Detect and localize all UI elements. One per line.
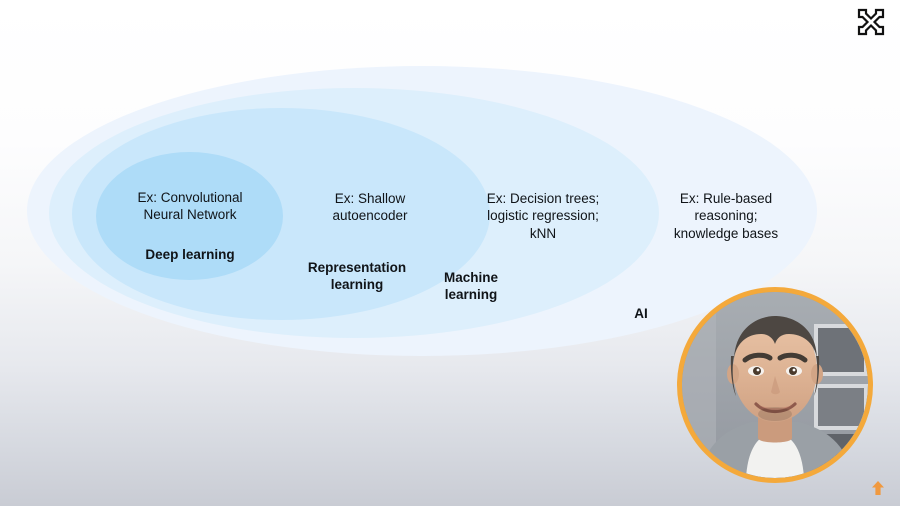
example-label-machine-learning: Ex: Decision trees; logistic regression;…: [452, 190, 634, 242]
presenter-webcam[interactable]: [677, 287, 873, 483]
example-label-representation-learning: Ex: Shallow autoencoder: [290, 190, 450, 225]
example-label-ai: Ex: Rule-based reasoning; knowledge base…: [636, 190, 816, 242]
tier-label-ai: AI: [596, 305, 686, 322]
webcam-video-frame: [682, 292, 868, 478]
x-monogram-logo: [854, 5, 888, 39]
tier-label-deep-learning: Deep learning: [98, 246, 282, 263]
tier-label-machine-learning: Machine learning: [406, 269, 536, 304]
up-arrow-icon[interactable]: [868, 478, 888, 498]
example-label-deep-learning: Ex: Convolutional Neural Network: [98, 189, 282, 224]
slide-canvas: Ex: Convolutional Neural Network Deep le…: [0, 0, 900, 506]
